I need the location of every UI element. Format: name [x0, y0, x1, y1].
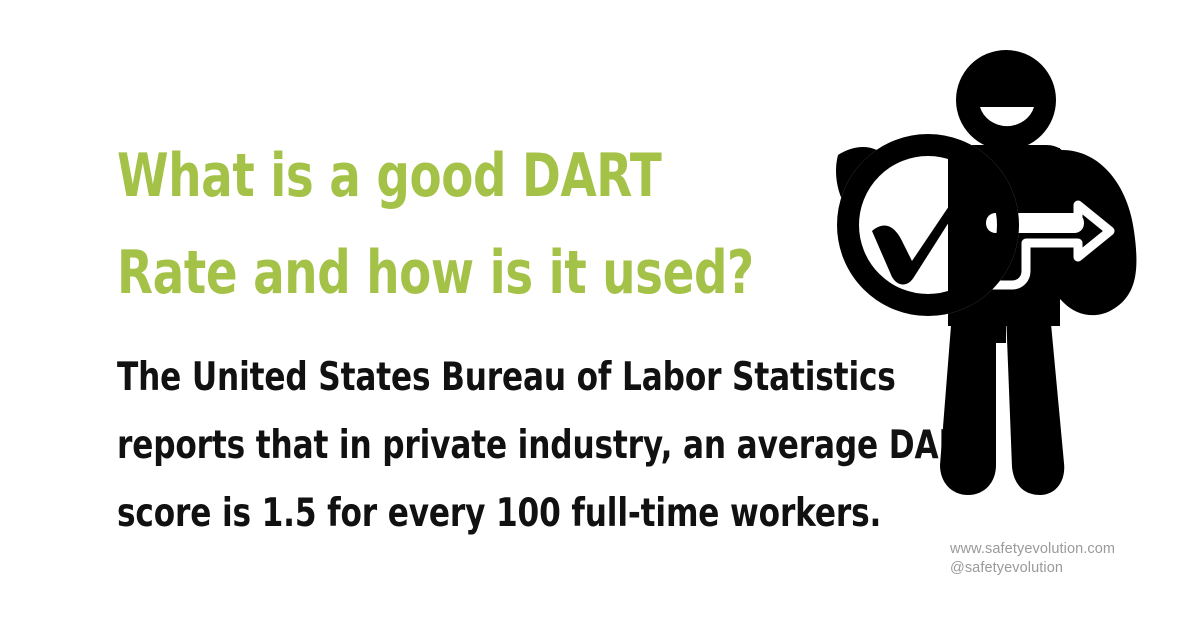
infographic-canvas: What is a good DART Rate and how is it u… — [0, 0, 1200, 627]
crotch-fill — [996, 313, 1006, 343]
body-line-1: The United States Bureau of Labor Statis… — [117, 344, 773, 412]
footer-credits: www.safetyevolution.com @safetyevolution — [950, 540, 1115, 578]
left-leg — [940, 313, 996, 495]
right-leg — [1006, 313, 1064, 495]
person-checkmark-illustration — [810, 45, 1170, 525]
headline-line-2: Rate and how is it used? — [117, 225, 757, 322]
headline-line-1: What is a good DART — [117, 128, 757, 225]
body-line-3: score is 1.5 for every 100 full-time wor… — [117, 480, 773, 548]
page-title: What is a good DART Rate and how is it u… — [117, 128, 757, 322]
social-handle: @safetyevolution — [950, 559, 1115, 578]
body-line-2: reports that in private industry, an ave… — [117, 412, 773, 480]
head-circle — [956, 50, 1056, 150]
body-copy: The United States Bureau of Labor Statis… — [117, 322, 773, 548]
website-url: www.safetyevolution.com — [950, 540, 1115, 559]
